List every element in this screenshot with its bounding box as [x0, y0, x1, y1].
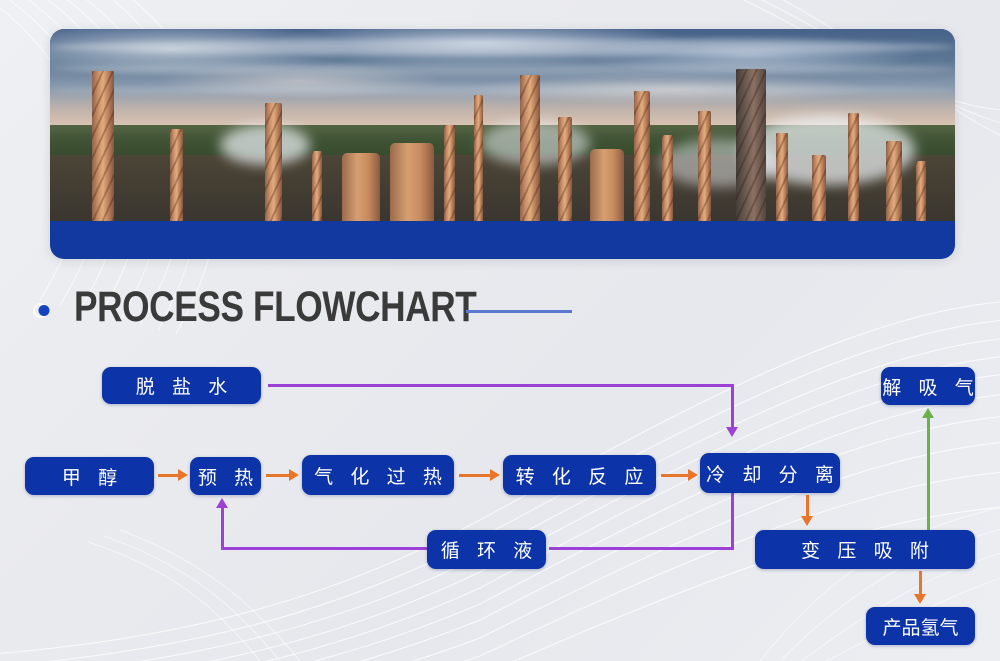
hero-banner: [50, 29, 955, 259]
connector-cooling-to-circulating-h: [549, 547, 734, 550]
node-product-hydrogen[interactable]: 产品氢气: [866, 607, 975, 645]
node-methanol[interactable]: 甲 醇: [25, 457, 154, 495]
arrowhead-cooling-to-psa: [801, 516, 813, 526]
node-gasify-superheat[interactable]: 气 化 过 热: [302, 455, 454, 495]
page-title: PROCESS FLOWCHART: [74, 283, 476, 331]
node-cooling-separation[interactable]: 冷 却 分 离: [700, 453, 840, 493]
connector-demin-water-to-cooling-v: [731, 384, 734, 429]
node-label: 预 热: [192, 463, 259, 490]
node-label: 变 压 吸 附: [795, 536, 935, 563]
arrowhead-conversion-to-cooling: [688, 469, 698, 481]
node-conversion[interactable]: 转 化 反 应: [503, 455, 656, 495]
arrowhead-psa-to-product-hydrogen: [914, 594, 926, 604]
connector-conversion-to-cooling: [661, 474, 689, 477]
arrowhead-preheat-to-gasify: [289, 469, 299, 481]
connector-cooling-to-psa: [806, 495, 809, 518]
node-label: 甲 醇: [56, 463, 123, 490]
banner-blue-band: [50, 221, 955, 259]
title-underline: [466, 310, 572, 313]
node-psa[interactable]: 变 压 吸 附: [755, 530, 975, 569]
connector-methanol-to-preheat: [158, 474, 180, 477]
node-label: 产品氢气: [882, 613, 958, 640]
connector-demin-water-to-cooling-h: [268, 384, 734, 387]
connector-gasify-to-conversion: [459, 474, 491, 477]
node-label: 转 化 反 应: [510, 462, 650, 489]
node-desorption-gas[interactable]: 解 吸 气: [881, 367, 975, 405]
slide-root: PROCESS FLOWCHART 脱 盐 水 甲 醇 预 热 气 化 过 热 …: [0, 0, 1000, 661]
arrowhead-methanol-to-preheat: [178, 469, 188, 481]
connector-circulating-to-preheat-v: [221, 508, 224, 550]
connector-psa-to-desorption-gas: [927, 418, 930, 530]
refinery-photo: [50, 29, 955, 221]
node-label: 气 化 过 热: [308, 462, 448, 489]
arrowhead-psa-to-desorption-gas: [922, 408, 934, 418]
node-label: 循 环 液: [435, 536, 539, 563]
connector-circulating-to-preheat-h: [221, 547, 427, 550]
node-circulating-liquid[interactable]: 循 环 液: [427, 530, 546, 569]
connector-psa-to-product-hydrogen: [919, 571, 922, 596]
arrowhead-gasify-to-conversion: [490, 469, 500, 481]
connector-preheat-to-gasify: [266, 474, 290, 477]
node-label: 冷 却 分 离: [700, 460, 840, 487]
node-label: 解 吸 气: [876, 373, 980, 400]
arrowhead-circulating-to-preheat: [216, 498, 228, 508]
connector-cooling-to-circulating-v: [731, 493, 734, 549]
node-demin-water[interactable]: 脱 盐 水: [102, 367, 261, 404]
node-label: 脱 盐 水: [130, 372, 234, 399]
arrowhead-demin-water-to-cooling: [726, 427, 738, 437]
double-circle-icon: [33, 301, 52, 320]
node-preheat[interactable]: 预 热: [190, 457, 261, 495]
